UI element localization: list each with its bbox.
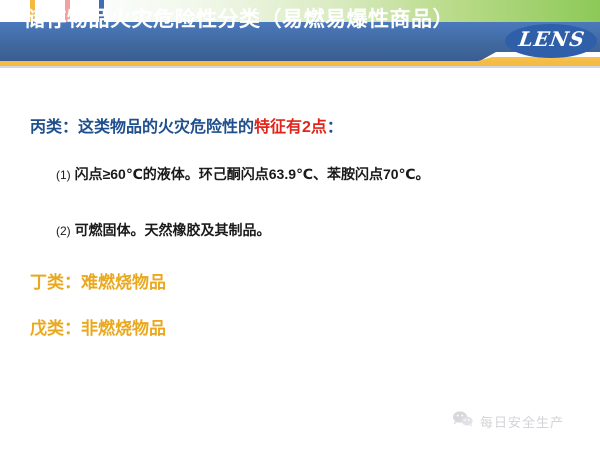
heading-highlight: 特征有2点 <box>254 119 327 136</box>
list-item: (1) 闪点≥60℃的液体。环己酮闪点63.9℃、苯胺闪点70℃。 <box>56 164 430 184</box>
category-heading-bing: 丙类：这类物品的火灾危险性的特征有2点： <box>30 113 343 137</box>
bullet-number: (1) <box>56 168 71 182</box>
lens-logo-text: LENS <box>510 27 593 51</box>
watermark: 每日安全生产 <box>452 410 564 433</box>
watermark-text: 每日安全生产 <box>480 412 564 431</box>
slide-canvas: 储存物品火灾危险性分类（易燃易爆性商品） LENS 丙类：这类物品的火灾危险性的… <box>0 0 600 450</box>
bullet-text: 闪点≥60℃的液体。环己酮闪点63.9℃、苯胺闪点70℃。 <box>75 166 430 182</box>
title-underline-thin <box>0 66 600 68</box>
slide-body: 丙类：这类物品的火灾危险性的特征有2点： (1) 闪点≥60℃的液体。环己酮闪点… <box>0 70 600 450</box>
page-title: 储存物品火灾危险性分类（易燃易爆性商品） <box>24 4 454 36</box>
bullet-text: 可燃固体。天然橡胶及其制品。 <box>75 222 271 238</box>
heading-prefix: 丙类：这类物品的火灾危险性的 <box>30 119 254 136</box>
list-item: (2) 可燃固体。天然橡胶及其制品。 <box>56 220 271 240</box>
heading-suffix: ： <box>327 119 343 136</box>
category-heading-ding: 丁类：难燃烧物品 <box>30 268 166 293</box>
wechat-icon <box>452 410 474 433</box>
category-heading-wu: 戊类：非燃烧物品 <box>30 314 166 339</box>
bullet-number: (2) <box>56 224 71 238</box>
